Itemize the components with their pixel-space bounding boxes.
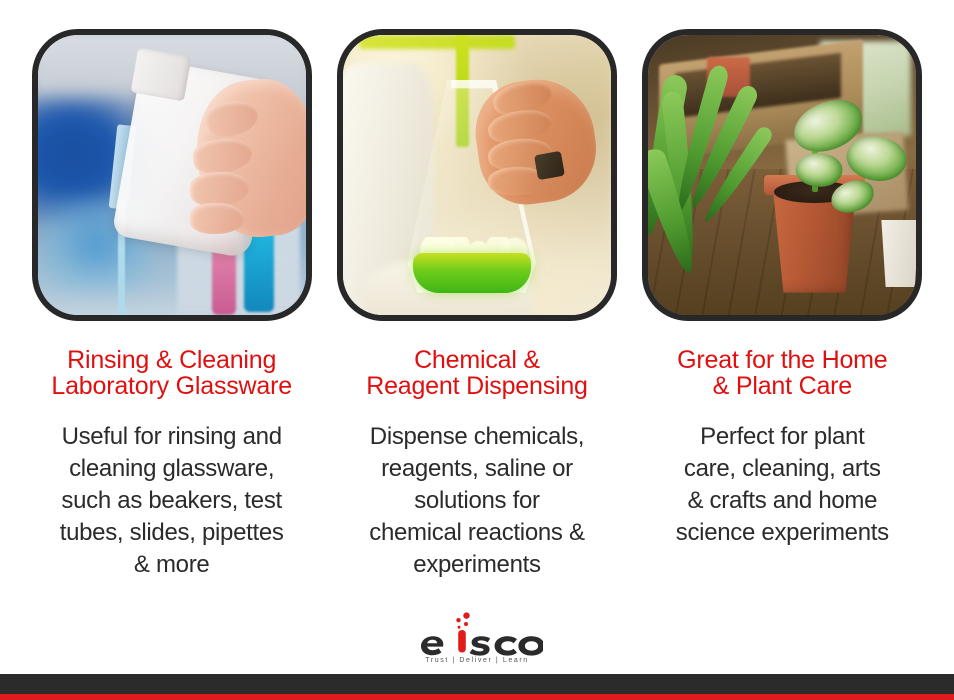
footer-dark-bar (0, 674, 954, 694)
feature-heading: Chemical & Reagent Dispensing (366, 347, 588, 399)
footer-red-bar (0, 694, 954, 700)
flask-photo-card (337, 29, 617, 321)
feature-columns: Rinsing & Cleaning Laboratory Glassware … (0, 0, 954, 581)
logo-bubble-icon (456, 618, 460, 622)
brand-tagline: Trust | Deliver | Learn (425, 657, 529, 664)
feature-column-home-plant-care: Great for the Home & Plant Care Perfect … (630, 0, 935, 581)
eisco-logo-icon (411, 612, 543, 656)
flask-photo (343, 35, 611, 315)
logo-bubble-icon (463, 612, 469, 618)
logo-bubble-icon (458, 626, 461, 629)
finger (190, 203, 244, 234)
wash-bottle-photo-card (32, 29, 312, 321)
wash-bottle-photo (38, 35, 306, 315)
feature-heading: Rinsing & Cleaning Laboratory Glassware (51, 347, 292, 399)
product-feature-banner: Rinsing & Cleaning Laboratory Glassware … (0, 0, 954, 700)
wash-bottle-cap (131, 47, 192, 100)
feature-description: Perfect for plant care, cleaning, arts &… (676, 421, 889, 549)
feature-heading: Great for the Home & Plant Care (677, 347, 887, 399)
ring (534, 150, 565, 179)
brand-logo: Trust | Deliver | Learn (0, 612, 954, 664)
pouring-container-blur (359, 35, 514, 49)
plants-photo (648, 35, 916, 315)
feature-column-rinsing-cleaning: Rinsing & Cleaning Laboratory Glassware … (19, 0, 324, 581)
feature-description: Useful for rinsing and cleaning glasswar… (60, 421, 284, 581)
feature-column-chemical-dispensing: Chemical & Reagent Dispensing Dispense c… (324, 0, 629, 581)
logo-wordmark-icon (421, 636, 543, 655)
logo-bubble-icon (464, 622, 468, 626)
green-liquid (413, 253, 531, 292)
plants-photo-card (642, 29, 922, 321)
feature-description: Dispense chemicals, reagents, saline or … (369, 421, 584, 581)
logo-i-stem-icon (458, 630, 466, 653)
